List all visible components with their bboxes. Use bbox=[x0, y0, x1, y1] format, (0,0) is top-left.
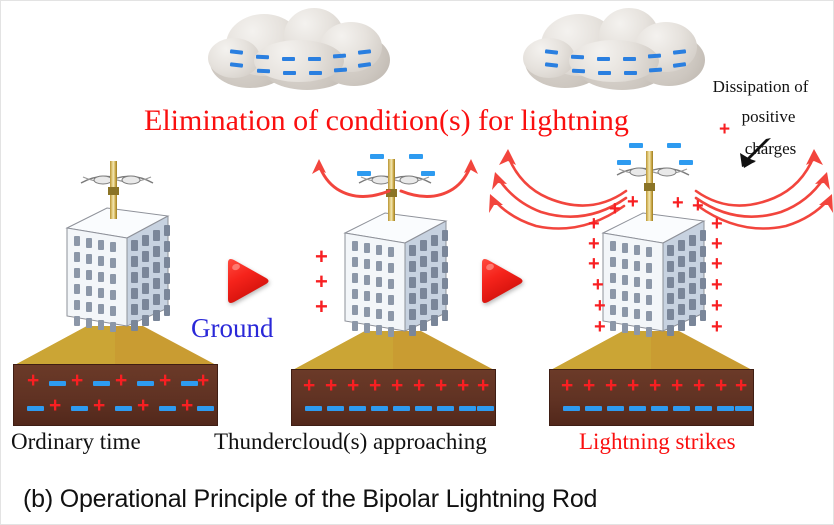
window bbox=[678, 304, 685, 315]
window bbox=[610, 321, 616, 331]
window bbox=[376, 277, 382, 287]
ground-charge-positive: + bbox=[27, 370, 39, 391]
window bbox=[409, 245, 416, 256]
window bbox=[131, 272, 138, 283]
window bbox=[110, 290, 116, 300]
step-arrow-2[interactable] bbox=[473, 253, 529, 309]
cloud-lobe bbox=[569, 40, 659, 82]
window bbox=[376, 261, 382, 271]
step-arrow-1[interactable] bbox=[219, 253, 275, 309]
window bbox=[142, 251, 149, 262]
window bbox=[98, 320, 104, 330]
window bbox=[442, 262, 448, 273]
window bbox=[164, 289, 170, 300]
window bbox=[352, 321, 358, 331]
ground-charge-negative bbox=[305, 406, 322, 411]
panel-caption: Thundercloud(s) approaching bbox=[214, 429, 487, 455]
window bbox=[442, 310, 448, 321]
ground-charge-positive: + bbox=[583, 375, 595, 396]
window bbox=[74, 300, 80, 310]
building-charge-positive: + bbox=[592, 275, 604, 295]
window bbox=[364, 323, 370, 333]
ground-charge-negative bbox=[673, 406, 690, 411]
window bbox=[420, 256, 427, 267]
window bbox=[131, 240, 138, 251]
window bbox=[376, 245, 382, 255]
ground-charge-positive: + bbox=[693, 375, 705, 396]
cloud-lobe bbox=[523, 38, 575, 78]
window bbox=[74, 236, 80, 246]
ground-charge-negative bbox=[93, 381, 110, 386]
window bbox=[376, 293, 382, 303]
charge-flow-arrow-right bbox=[397, 151, 487, 211]
charge-flow-arrows-left bbox=[486, 136, 636, 241]
figure-canvas: Elimination of condition(s) for lightnin… bbox=[0, 0, 834, 525]
window bbox=[646, 327, 652, 337]
window bbox=[622, 323, 628, 333]
window bbox=[700, 246, 706, 257]
ground-charge-positive: + bbox=[181, 395, 193, 416]
building-charge-positive: + bbox=[627, 192, 639, 212]
ground-charge-positive: + bbox=[71, 370, 83, 391]
window bbox=[610, 241, 616, 251]
headline-text: Elimination of condition(s) for lightnin… bbox=[144, 104, 629, 138]
window bbox=[431, 235, 438, 246]
window bbox=[153, 294, 160, 305]
window bbox=[364, 243, 370, 253]
window bbox=[86, 302, 92, 312]
window bbox=[409, 325, 416, 336]
ground-charge-negative bbox=[393, 406, 410, 411]
window bbox=[700, 262, 706, 273]
cloud-left bbox=[206, 6, 391, 91]
window bbox=[646, 247, 652, 257]
window bbox=[364, 259, 370, 269]
ground-charge-negative bbox=[415, 406, 432, 411]
ground-charge-negative bbox=[159, 406, 176, 411]
window bbox=[634, 325, 640, 335]
window bbox=[86, 254, 92, 264]
ground-charge-negative bbox=[437, 406, 454, 411]
window bbox=[678, 320, 685, 331]
ground-charge-positive: + bbox=[457, 375, 469, 396]
window bbox=[164, 273, 170, 284]
window bbox=[142, 315, 149, 326]
window bbox=[164, 241, 170, 252]
building-charge-positive: + bbox=[588, 254, 600, 274]
cloud-charge-negative bbox=[309, 71, 322, 75]
window bbox=[442, 230, 448, 241]
window bbox=[442, 278, 448, 289]
ground-charge-positive: + bbox=[137, 395, 149, 416]
ground-charge-positive: + bbox=[93, 395, 105, 416]
ground-charge-positive: + bbox=[49, 395, 61, 416]
window bbox=[610, 305, 616, 315]
window bbox=[689, 251, 696, 262]
building-charge-positive: + bbox=[315, 296, 328, 318]
window bbox=[431, 251, 438, 262]
building-charge-positive: + bbox=[588, 214, 600, 234]
ground-charge-negative bbox=[563, 406, 580, 411]
figure-title: (b) Operational Principle of the Bipolar… bbox=[23, 485, 597, 514]
ground-charge-positive: + bbox=[159, 370, 171, 391]
ground-charge-negative bbox=[181, 381, 198, 386]
window bbox=[634, 309, 640, 319]
window bbox=[442, 294, 448, 305]
ground-charge-negative bbox=[27, 406, 44, 411]
window bbox=[376, 309, 382, 319]
window bbox=[98, 240, 104, 250]
window bbox=[131, 320, 138, 331]
ground-charge-positive: + bbox=[649, 375, 661, 396]
window bbox=[622, 291, 628, 301]
window bbox=[98, 256, 104, 266]
building-charge-positive: + bbox=[609, 199, 621, 219]
window bbox=[667, 261, 674, 272]
building-charge-positive: + bbox=[594, 317, 606, 337]
rod-charge-negative bbox=[667, 143, 681, 148]
charge-flow-arrows-right bbox=[686, 136, 834, 241]
window bbox=[110, 274, 116, 284]
ground-charge-negative bbox=[197, 406, 214, 411]
window bbox=[667, 309, 674, 320]
window bbox=[364, 291, 370, 301]
ground-charge-negative bbox=[477, 406, 494, 411]
ground-charge-negative bbox=[717, 406, 734, 411]
cloud-lobe bbox=[254, 40, 344, 82]
building bbox=[65, 206, 170, 341]
window bbox=[420, 320, 427, 331]
ground-charge-positive: + bbox=[627, 375, 639, 396]
window bbox=[352, 257, 358, 267]
window bbox=[431, 315, 438, 326]
cloud-right bbox=[521, 6, 706, 91]
window bbox=[420, 304, 427, 315]
window bbox=[610, 289, 616, 299]
cloud-charge-negative bbox=[597, 57, 610, 61]
ground-charge-negative bbox=[71, 406, 88, 411]
window bbox=[646, 311, 652, 321]
window bbox=[622, 243, 628, 253]
ground-charge-positive: + bbox=[435, 375, 447, 396]
window bbox=[164, 257, 170, 268]
ground-charge-negative bbox=[651, 406, 668, 411]
window bbox=[352, 241, 358, 251]
building-charge-positive: + bbox=[711, 254, 723, 274]
window bbox=[622, 307, 628, 317]
building-charge-positive: + bbox=[711, 296, 723, 316]
panel-caption: Lightning strikes bbox=[579, 429, 736, 455]
window bbox=[610, 257, 616, 267]
window bbox=[164, 225, 170, 236]
ground-charge-negative bbox=[459, 406, 476, 411]
window bbox=[646, 263, 652, 273]
window bbox=[667, 245, 674, 256]
ground-charge-negative bbox=[371, 406, 388, 411]
window bbox=[74, 284, 80, 294]
window bbox=[634, 293, 640, 303]
cloud-charge-negative bbox=[257, 69, 270, 74]
building-charge-positive: + bbox=[711, 275, 723, 295]
cloud-charge-negative bbox=[256, 55, 269, 59]
window bbox=[110, 306, 116, 316]
building bbox=[343, 211, 448, 346]
window bbox=[352, 305, 358, 315]
ground-charge-positive: + bbox=[303, 375, 315, 396]
window bbox=[131, 256, 138, 267]
window bbox=[420, 240, 427, 251]
window bbox=[131, 288, 138, 299]
window bbox=[98, 288, 104, 298]
window bbox=[74, 268, 80, 278]
ground-charge-negative bbox=[607, 406, 624, 411]
window bbox=[700, 278, 706, 289]
window bbox=[678, 256, 685, 267]
window bbox=[388, 327, 394, 337]
ground-charge-negative bbox=[629, 406, 646, 411]
window bbox=[420, 288, 427, 299]
rod-collar bbox=[644, 183, 655, 191]
window bbox=[131, 304, 138, 315]
window bbox=[110, 258, 116, 268]
cloud-charge-negative bbox=[598, 71, 611, 75]
ground-charge-positive: + bbox=[325, 375, 337, 396]
building-charge-positive: + bbox=[711, 214, 723, 234]
building-charge-positive: + bbox=[315, 246, 328, 268]
window bbox=[388, 295, 394, 305]
window bbox=[689, 283, 696, 294]
window bbox=[622, 275, 628, 285]
window bbox=[667, 325, 674, 336]
ground-charge-negative bbox=[585, 406, 602, 411]
window bbox=[388, 311, 394, 321]
window bbox=[678, 272, 685, 283]
building-charge-positive: + bbox=[588, 234, 600, 254]
ground-charge-positive: + bbox=[715, 375, 727, 396]
window bbox=[364, 275, 370, 285]
window bbox=[153, 310, 160, 321]
window bbox=[110, 322, 116, 332]
window bbox=[700, 294, 706, 305]
ground-charge-negative bbox=[49, 381, 66, 386]
cloud-charge-negative bbox=[571, 55, 584, 59]
panel-caption: Ordinary time bbox=[11, 429, 141, 455]
cloud-charge-negative bbox=[283, 71, 296, 75]
ground-charge-positive: + bbox=[391, 375, 403, 396]
window bbox=[610, 273, 616, 283]
window bbox=[634, 277, 640, 287]
cloud-charge-negative bbox=[624, 71, 637, 75]
window bbox=[110, 242, 116, 252]
ground-charge-positive: + bbox=[413, 375, 425, 396]
cloud-charge-negative bbox=[308, 57, 321, 61]
building-charge-positive: + bbox=[692, 196, 704, 216]
window bbox=[388, 263, 394, 273]
window bbox=[164, 305, 170, 316]
window bbox=[352, 273, 358, 283]
window bbox=[142, 283, 149, 294]
window bbox=[153, 262, 160, 273]
window bbox=[364, 307, 370, 317]
window bbox=[86, 286, 92, 296]
window bbox=[420, 272, 427, 283]
window bbox=[622, 259, 628, 269]
ground-charge-positive: + bbox=[477, 375, 489, 396]
building-charge-positive: + bbox=[711, 234, 723, 254]
window bbox=[689, 267, 696, 278]
ground-charge-negative bbox=[735, 406, 752, 411]
charge-flow-arrow-left bbox=[303, 151, 393, 211]
ground-charge-positive: + bbox=[369, 375, 381, 396]
window bbox=[153, 278, 160, 289]
window bbox=[431, 299, 438, 310]
ground-charge-positive: + bbox=[347, 375, 359, 396]
window bbox=[142, 267, 149, 278]
window bbox=[388, 279, 394, 289]
window bbox=[667, 277, 674, 288]
window bbox=[86, 270, 92, 280]
panel-strike: + + + + + + + + + bbox=[531, 151, 791, 426]
ground-charge-positive: + bbox=[605, 375, 617, 396]
window bbox=[409, 261, 416, 272]
lightning-rod bbox=[633, 141, 693, 221]
window bbox=[442, 246, 448, 257]
window bbox=[142, 235, 149, 246]
window bbox=[153, 230, 160, 241]
window bbox=[142, 299, 149, 310]
window bbox=[388, 247, 394, 257]
ground-charge-negative bbox=[349, 406, 366, 411]
window bbox=[74, 252, 80, 262]
window bbox=[689, 299, 696, 310]
cloud-lobe bbox=[208, 38, 260, 78]
window bbox=[646, 295, 652, 305]
ground-charge-positive: + bbox=[671, 375, 683, 396]
building-charge-positive: + bbox=[315, 271, 328, 293]
window bbox=[376, 325, 382, 335]
window bbox=[646, 279, 652, 289]
cloud-charge-negative bbox=[623, 57, 636, 61]
ground-charge-negative bbox=[115, 406, 132, 411]
window bbox=[634, 261, 640, 271]
window bbox=[409, 309, 416, 320]
window bbox=[689, 315, 696, 326]
ground-charge-positive: + bbox=[115, 370, 127, 391]
window bbox=[86, 238, 92, 248]
window bbox=[431, 283, 438, 294]
window bbox=[409, 277, 416, 288]
ground-charge-positive: + bbox=[197, 370, 209, 391]
ground-charge-negative bbox=[327, 406, 344, 411]
building-charge-positive: + bbox=[594, 296, 606, 316]
building-charge-positive: + bbox=[711, 317, 723, 337]
window bbox=[678, 288, 685, 299]
window bbox=[634, 245, 640, 255]
ground-charge-positive: + bbox=[561, 375, 573, 396]
window bbox=[409, 293, 416, 304]
building-charge-positive: + bbox=[672, 193, 684, 213]
panel-ordinary: + + + + + + + + + bbox=[1, 151, 231, 426]
rod-collar bbox=[108, 187, 119, 195]
window bbox=[153, 246, 160, 257]
window bbox=[700, 310, 706, 321]
cloud-charge-negative bbox=[282, 57, 295, 61]
cloud-charge-negative bbox=[572, 69, 585, 74]
window bbox=[431, 267, 438, 278]
window bbox=[98, 272, 104, 282]
ground-charge-positive: + bbox=[735, 375, 747, 396]
annotation-line-1: Dissipation of bbox=[693, 77, 828, 97]
lightning-rod bbox=[97, 161, 157, 221]
window bbox=[74, 316, 80, 326]
window bbox=[98, 304, 104, 314]
window bbox=[667, 293, 674, 304]
window bbox=[86, 318, 92, 328]
ground-charge-negative bbox=[695, 406, 712, 411]
window bbox=[678, 240, 685, 251]
ground-charge-negative bbox=[137, 381, 154, 386]
window bbox=[352, 289, 358, 299]
